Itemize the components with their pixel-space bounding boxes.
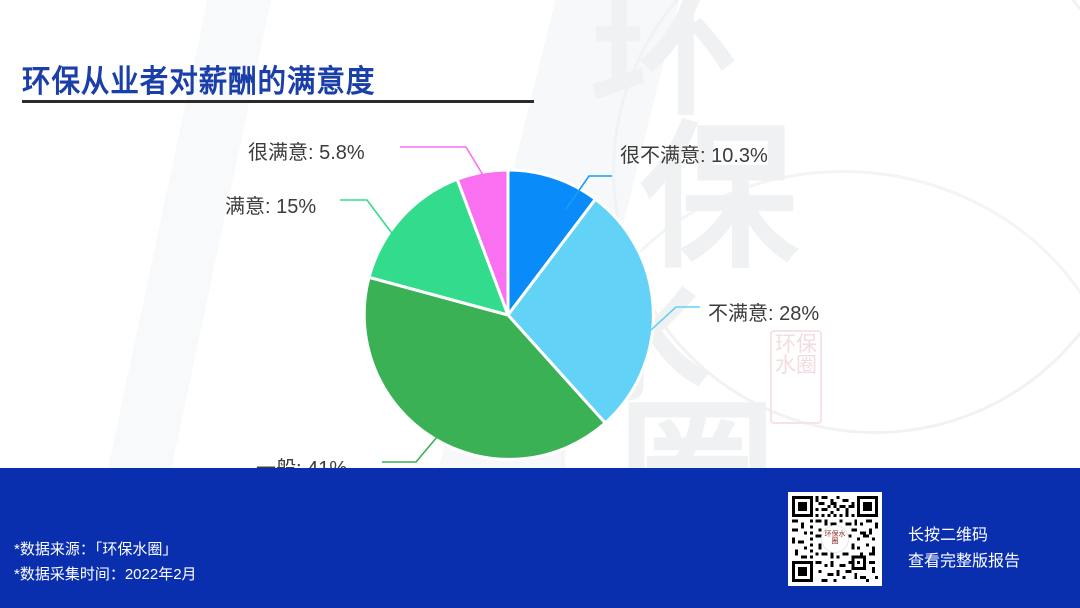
leader-line-sat <box>340 200 394 236</box>
footer-note-source: *数据来源：「环保水圈」 <box>14 537 197 562</box>
pie-label-verysat: 很满意: 5.8% <box>248 136 365 165</box>
qr-code[interactable]: 环保水圈 <box>788 492 882 586</box>
pie-chart-svg <box>0 0 1080 500</box>
pie-label-sat: 满意: 15% <box>225 190 316 219</box>
slide-root: 环 保 水 圈 环保水圈 环保从业者对薪酬的满意度 <box>0 0 1080 608</box>
qr-cta: 长按二维码 查看完整版报告 <box>908 523 1020 575</box>
qr-cta-line-1: 长按二维码 <box>908 523 1020 549</box>
qr-cta-line-2: 查看完整版报告 <box>908 549 1020 575</box>
pie-label-veryunsat: 很不满意: 10.3% <box>620 139 768 168</box>
pie-slices <box>364 170 653 459</box>
footer-note-date: *数据采集时间：2022年2月 <box>14 562 197 587</box>
pie-label-unsat: 不满意: 28% <box>708 297 819 326</box>
qr-center-logo: 环保水圈 <box>821 525 849 553</box>
qr-canvas: 环保水圈 <box>792 496 878 582</box>
leader-line-neutral <box>382 437 437 462</box>
pie-chart: 很不满意: 10.3% 不满意: 28% 一般: 41% 满意: 15% 很满意… <box>0 0 1080 500</box>
leader-line-unsat <box>651 307 700 330</box>
footer-notes: *数据来源：「环保水圈」 *数据采集时间：2022年2月 <box>14 537 197 587</box>
